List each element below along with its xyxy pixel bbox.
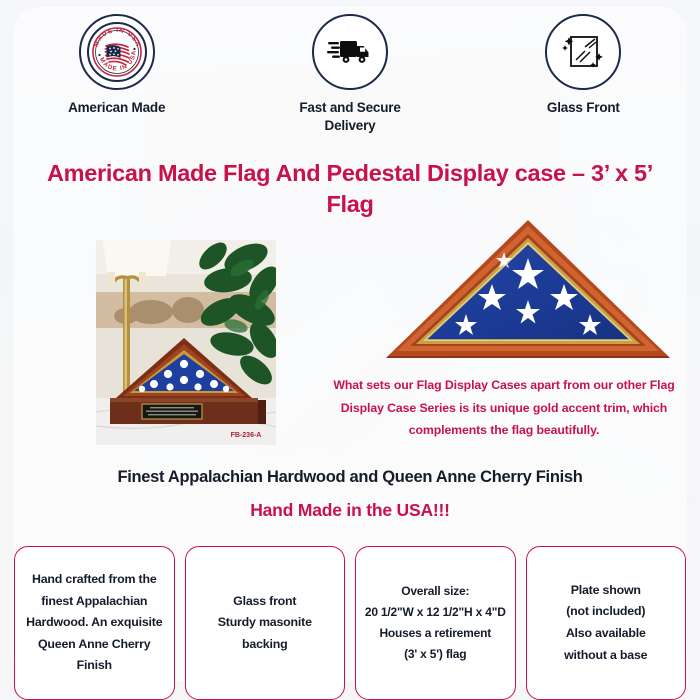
feature-box: Plate shown (not included) Also availabl… — [526, 546, 687, 700]
triangular-flag-display-case-gold-trim-photo — [378, 218, 678, 368]
fast-delivery-truck-icon — [312, 14, 388, 90]
product-infographic: S MADE IN USA MA — [0, 0, 700, 700]
feature-box-text: Overall size: 20 1/2"W x 12 1/2"H x 4"D … — [365, 581, 506, 665]
promo-text: What sets our Flag Display Cases apart f… — [318, 374, 690, 442]
badge-glass-front: Glass Front — [467, 14, 700, 146]
feature-box: Overall size: 20 1/2"W x 12 1/2"H x 4"D … — [355, 546, 516, 700]
feature-box-text: Hand crafted from the finest Appalachian… — [23, 569, 166, 677]
page-title: American Made Flag And Pedestal Display … — [30, 158, 670, 221]
badge-label: Glass Front — [547, 99, 620, 117]
feature-boxes-row: Hand crafted from the finest Appalachian… — [14, 546, 686, 700]
subheading-material: Finest Appalachian Hardwood and Queen An… — [40, 468, 660, 487]
badge-fast-delivery: Fast and Secure Delivery — [233, 14, 466, 146]
made-in-usa-seal-icon: MADE IN USA MADE IN USA — [79, 14, 155, 90]
flag-pedestal-display-case-room-photo: FB-236-A — [96, 240, 276, 445]
badge-label: Fast and Secure Delivery — [299, 99, 400, 135]
glass-front-icon — [545, 14, 621, 90]
feature-box-text: Glass front Sturdy masonite backing — [218, 591, 312, 656]
badge-american-made: MADE IN USA MADE IN USA — [0, 14, 233, 146]
trust-badges-row: MADE IN USA MADE IN USA — [0, 14, 700, 146]
badge-label: American Made — [68, 99, 165, 117]
product-code-label: FB-236-A — [231, 432, 262, 439]
feature-box: Hand crafted from the finest Appalachian… — [14, 546, 175, 700]
feature-box-text: Plate shown (not included) Also availabl… — [564, 580, 647, 666]
feature-box: Glass front Sturdy masonite backing — [185, 546, 346, 700]
subheading-handmade: Hand Made in the USA!!! — [40, 500, 660, 521]
